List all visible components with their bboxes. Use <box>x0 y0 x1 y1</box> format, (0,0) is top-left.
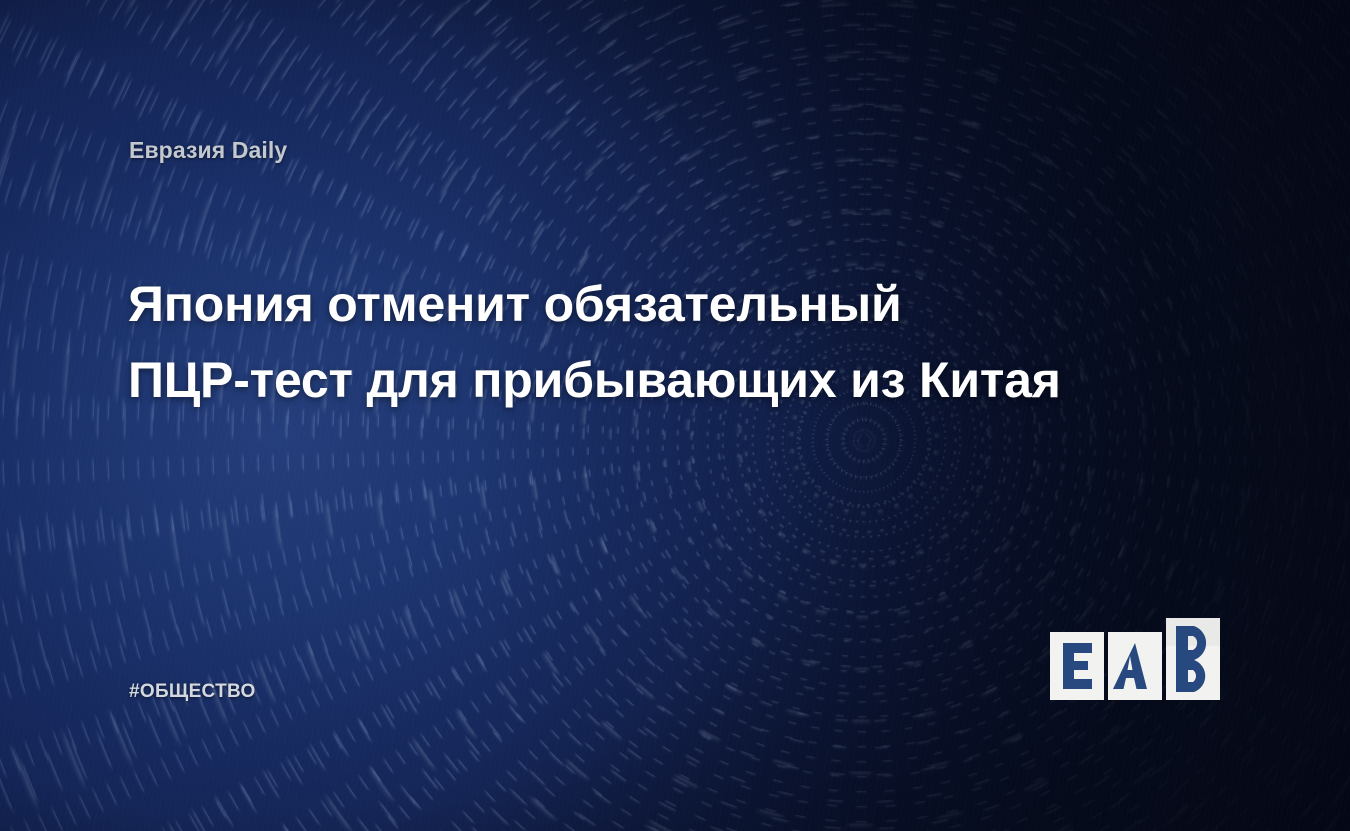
category-tag[interactable]: #ОБЩЕСТВО <box>129 681 256 703</box>
brand-name[interactable]: Евразия Daily <box>129 137 287 164</box>
headline-line-2: ПЦР-тест для прибывающих из Китая <box>128 342 1208 418</box>
news-share-card: Евразия Daily Япония отменит обязательны… <box>0 0 1350 831</box>
headline-line-1: Япония отменит обязательный <box>128 266 1208 342</box>
card-content: Евразия Daily Япония отменит обязательны… <box>0 0 1350 831</box>
page-title: Япония отменит обязательный ПЦР-тест для… <box>128 266 1208 418</box>
ead-logo-icon <box>1050 618 1222 704</box>
logo-letter-e <box>1063 643 1092 689</box>
ead-logo[interactable] <box>1050 618 1222 704</box>
